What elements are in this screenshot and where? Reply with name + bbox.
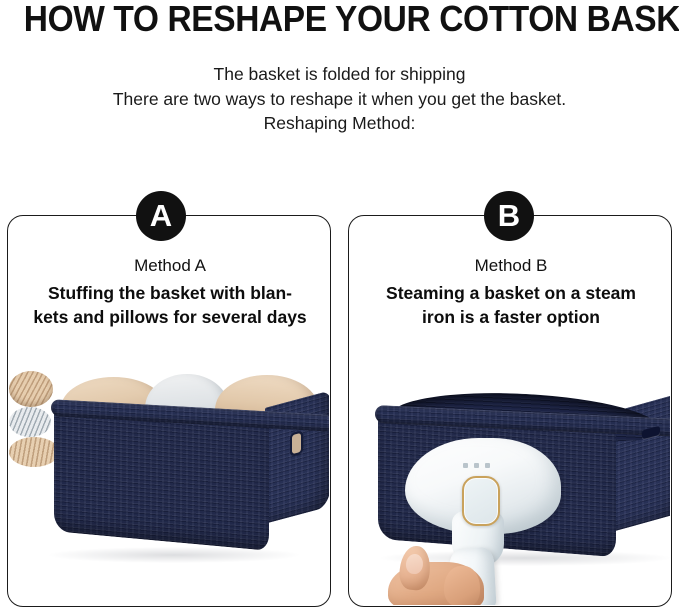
method-card-a: A Method A Stuffing the basket with blan… <box>7 215 331 607</box>
method-a-text-block: Method A Stuffing the basket with blan- … <box>14 254 326 329</box>
blanket-roll-coil-right <box>9 437 59 467</box>
method-b-text-block: Method B Steaming a basket on a steam ir… <box>355 254 667 329</box>
steamer-power-button <box>462 476 500 526</box>
intro-text: The basket is folded for shipping There … <box>0 62 679 136</box>
hand-holding-steamer <box>388 544 484 605</box>
intro-line-2: There are two ways to reshape it when yo… <box>0 87 679 112</box>
page-title: HOW TO RESHAPE YOUR COTTON BASKET <box>24 0 655 40</box>
method-b-desc-line-1: Steaming a basket on a steam <box>355 281 667 305</box>
method-a-title: Method A <box>14 254 326 277</box>
blanket-roll-coil-center <box>9 407 51 437</box>
basket-handle-cutout-icon <box>292 433 301 454</box>
method-a-photo <box>9 371 329 605</box>
blanket-roll-coil-left <box>9 371 53 407</box>
intro-line-3: Reshaping Method: <box>0 111 679 136</box>
method-badge-b: B <box>484 191 534 241</box>
hand-knuckle <box>444 566 480 605</box>
basket-side-panel <box>265 390 329 524</box>
method-a-desc-line-2: kets and pillows for several days <box>14 305 326 329</box>
method-b-photo <box>350 366 670 605</box>
method-b-description: Steaming a basket on a steam iron is a f… <box>355 281 667 329</box>
basket-shadow <box>49 547 299 563</box>
method-a-desc-line-1: Stuffing the basket with blan- <box>14 281 326 305</box>
method-a-description: Stuffing the basket with blan- kets and … <box>14 281 326 329</box>
method-b-desc-line-2: iron is a faster option <box>355 305 667 329</box>
steamer-indicator-lights-icon <box>463 463 495 469</box>
method-badge-a: A <box>136 191 186 241</box>
method-b-title: Method B <box>355 254 667 277</box>
method-card-b: B Method B Steaming a basket on a steam … <box>348 215 672 607</box>
intro-line-1: The basket is folded for shipping <box>0 62 679 87</box>
